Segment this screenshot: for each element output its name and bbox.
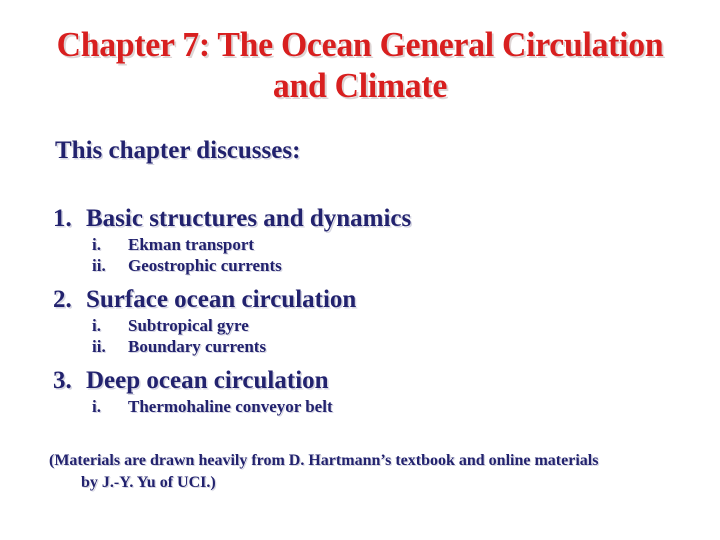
outline-subitem-1-2-marker: ii. bbox=[92, 255, 128, 276]
outline-item-3-label: Deep ocean circulation bbox=[86, 366, 329, 396]
outline-item-2-marker: 2. bbox=[53, 285, 86, 315]
outline-subitem-1-2-label: Geostrophic currents bbox=[128, 255, 282, 276]
intro-text: This chapter discusses: bbox=[55, 136, 720, 166]
page-title: Chapter 7: The Ocean General Circulation… bbox=[18, 24, 702, 106]
outline-subitem-1-1: i. Ekman transport bbox=[92, 234, 720, 255]
outline-subitem-2-2: ii. Boundary currents bbox=[92, 336, 720, 357]
outline-subitem-2-1-label: Subtropical gyre bbox=[128, 315, 249, 336]
outline-subitem-1-1-label: Ekman transport bbox=[128, 234, 254, 255]
title-line-2: and Climate bbox=[30, 65, 690, 106]
source-citation-line-2: by J.-Y. Yu of UCI.) bbox=[49, 472, 699, 494]
outline-subitem-2-1-marker: i. bbox=[92, 315, 128, 336]
outline-item-3: 3. Deep ocean circulation bbox=[53, 366, 720, 396]
outline-item-1-marker: 1. bbox=[53, 204, 86, 234]
outline-subitem-3-1-label: Thermohaline conveyor belt bbox=[128, 396, 333, 417]
outline-spacer-2 bbox=[0, 357, 720, 366]
outline-item-3-marker: 3. bbox=[53, 366, 86, 396]
outline-subitem-3-1-marker: i. bbox=[92, 396, 128, 417]
outline-item-2: 2. Surface ocean circulation bbox=[53, 285, 720, 315]
outline-spacer-1 bbox=[0, 276, 720, 285]
outline-item-1-label: Basic structures and dynamics bbox=[86, 204, 411, 234]
slide-body: This chapter discusses: 1. Basic structu… bbox=[0, 136, 720, 417]
outline-list: 1. Basic structures and dynamics i. Ekma… bbox=[0, 204, 720, 417]
slide-canvas: Chapter 7: The Ocean General Circulation… bbox=[0, 0, 720, 540]
outline-item-2-subitems: i. Subtropical gyre ii. Boundary current… bbox=[0, 315, 720, 357]
outline-subitem-2-2-marker: ii. bbox=[92, 336, 128, 357]
title-line-1: Chapter 7: The Ocean General Circulation bbox=[30, 24, 690, 65]
outline-item-1-subitems: i. Ekman transport ii. Geostrophic curre… bbox=[0, 234, 720, 276]
outline-subitem-2-2-label: Boundary currents bbox=[128, 336, 266, 357]
outline-subitem-1-2: ii. Geostrophic currents bbox=[92, 255, 720, 276]
outline-item-1: 1. Basic structures and dynamics bbox=[53, 204, 720, 234]
source-citation-line-1: (Materials are drawn heavily from D. Har… bbox=[49, 452, 598, 469]
outline-subitem-3-1: i. Thermohaline conveyor belt bbox=[92, 396, 720, 417]
outline-item-3-subitems: i. Thermohaline conveyor belt bbox=[0, 396, 720, 417]
outline-subitem-2-1: i. Subtropical gyre bbox=[92, 315, 720, 336]
source-citation: (Materials are drawn heavily from D. Har… bbox=[49, 450, 699, 494]
outline-subitem-1-1-marker: i. bbox=[92, 234, 128, 255]
outline-item-2-label: Surface ocean circulation bbox=[86, 285, 356, 315]
